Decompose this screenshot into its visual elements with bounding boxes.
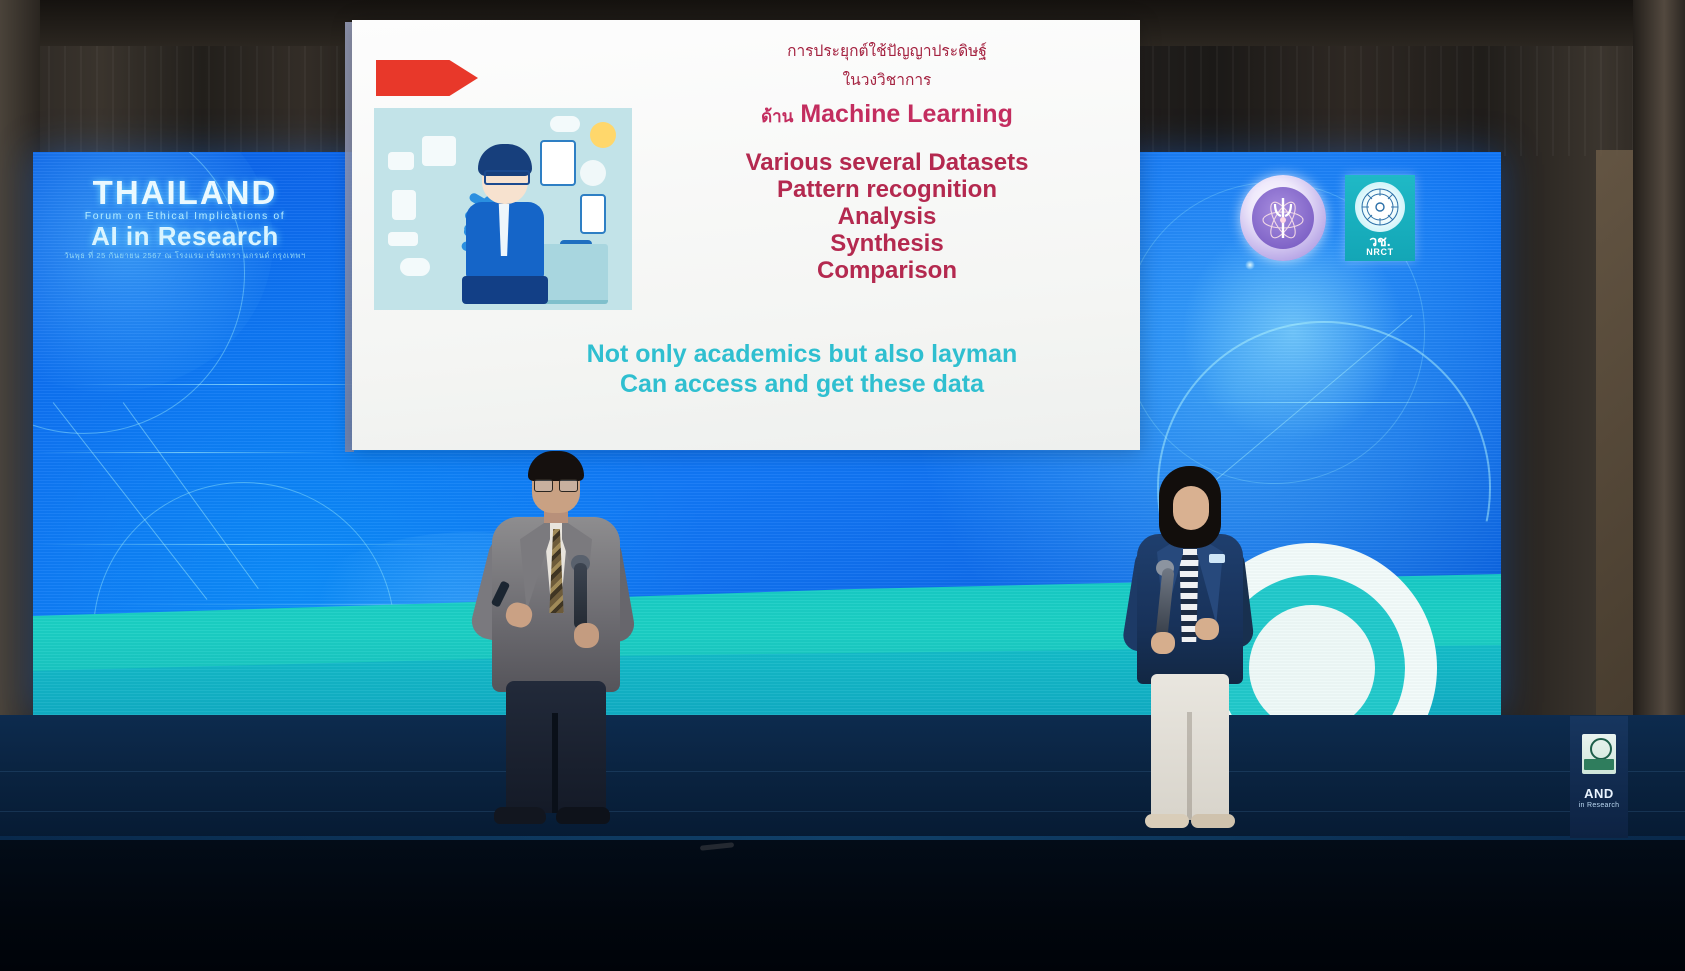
male-speaker-microphone[interactable] <box>574 563 587 629</box>
stage-floor-seam-1 <box>0 771 1685 772</box>
cloud-icon-left <box>400 258 430 276</box>
slide-accent-tab <box>376 60 478 96</box>
podium-logo-bar <box>1584 759 1614 770</box>
male-speaker-hair <box>528 451 584 481</box>
royal-seal-emblem <box>1240 175 1326 261</box>
male-speaker-shoe-left <box>494 807 546 824</box>
event-logo-title: THAILAND <box>60 176 310 209</box>
male-speaker-glasses-icon <box>534 479 578 490</box>
sun-icon <box>590 122 616 148</box>
cup-icon <box>392 190 416 220</box>
slide-topic-prefix: ด้าน <box>761 107 793 126</box>
smartphone-icon <box>580 194 606 234</box>
podium-sub-text: in Research <box>1570 802 1628 809</box>
slide-footer-line-1: Not only academics but also layman <box>482 340 1122 370</box>
illustration-person <box>458 136 550 304</box>
list-item: Analysis <box>652 204 1122 231</box>
podium-brand-text: AND <box>1570 786 1628 801</box>
stage-scene: THAILAND Forum on Ethical Implications o… <box>0 0 1685 971</box>
female-speaker-face <box>1173 486 1209 530</box>
list-item: Various several Datasets <box>652 150 1122 177</box>
multitasking-businessman-illustration <box>374 108 632 310</box>
podium: AND in Research <box>1570 716 1628 838</box>
wall-right-column <box>1633 0 1685 760</box>
slide-thai-line-2: ในวงวิชาการ <box>652 67 1122 92</box>
event-logo-date: วันพุธ ที่ 25 กันยายน 2567 ณ โรงแรม เซ็น… <box>60 252 310 260</box>
female-speaker-hand-left <box>1151 632 1175 654</box>
presentation-slide: การประยุกต์ใช้ปัญญาประดิษฐ์ ในวงวิชาการ … <box>352 20 1140 450</box>
envelope-icon <box>388 152 414 170</box>
male-speaker-shoe-right <box>556 807 610 824</box>
female-speaker-shoe-left <box>1145 814 1189 828</box>
female-speaker-hand-right <box>1195 618 1219 640</box>
male-speaker <box>478 455 628 840</box>
podium-logo <box>1582 734 1616 774</box>
male-speaker-leg-gap <box>552 713 558 813</box>
royal-seal-inner <box>1252 187 1314 249</box>
female-speaker-shoe-right <box>1191 814 1235 828</box>
note-card-icon <box>422 136 456 166</box>
event-logo-subtitle: AI in Research <box>60 223 310 249</box>
nrct-acronym: NRCT <box>1366 248 1393 258</box>
stage-apron <box>0 840 1685 971</box>
nrct-emblem-icon <box>1355 182 1405 232</box>
trident-atom-icon <box>1255 190 1311 246</box>
slide-topic-title: Machine Learning <box>800 100 1013 128</box>
stage-floor-seam-2 <box>0 811 1685 812</box>
female-speaker <box>1127 472 1251 840</box>
cloud-icon-right <box>550 116 580 132</box>
nrct-abbr: วช. <box>1369 234 1390 248</box>
nrct-wheel-icon <box>1355 182 1405 232</box>
slide-thai-line-1: การประยุกต์ใช้ปัญญาประดิษฐ์ <box>652 38 1122 63</box>
book-icon <box>388 232 418 246</box>
slide-footer-text: Not only academics but also layman Can a… <box>482 340 1122 399</box>
slide-footer-line-2: Can access and get these data <box>482 370 1122 400</box>
gear-icon <box>580 160 606 186</box>
nrct-logo: วช. NRCT <box>1345 175 1415 261</box>
slide-bullet-list: Various several Datasets Pattern recogni… <box>652 150 1122 284</box>
female-speaker-badge <box>1209 554 1225 563</box>
list-item: Synthesis <box>652 231 1122 258</box>
stage-floor <box>0 715 1685 845</box>
slide-heading: การประยุกต์ใช้ปัญญาประดิษฐ์ ในวงวิชาการ … <box>652 38 1122 130</box>
male-speaker-hand-right <box>574 623 599 648</box>
list-item: Pattern recognition <box>652 177 1122 204</box>
female-speaker-leg-gap <box>1187 712 1192 820</box>
list-item: Comparison <box>652 258 1122 285</box>
podium-logo-circle-icon <box>1590 738 1612 760</box>
slide-topic-line: ด้าน Machine Learning <box>652 100 1122 130</box>
person-glasses-icon <box>484 170 530 185</box>
event-logo: THAILAND Forum on Ethical Implications o… <box>60 176 310 268</box>
person-legs <box>462 276 548 304</box>
event-logo-tagline: Forum on Ethical Implications of <box>60 211 310 222</box>
